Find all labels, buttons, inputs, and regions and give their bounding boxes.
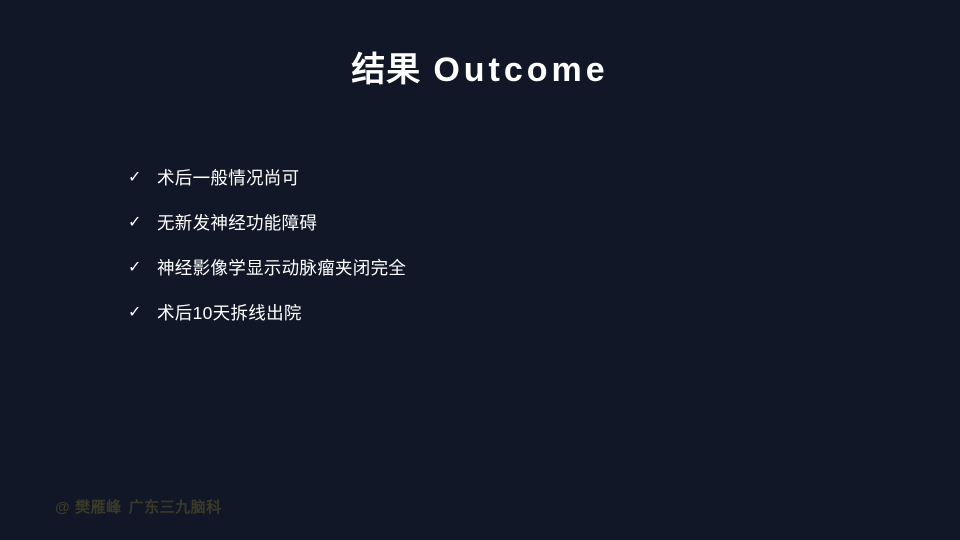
watermark-at-symbol: @: [55, 499, 70, 516]
list-item: ✓ 术后一般情况尚可: [128, 166, 848, 211]
checkmark-icon: ✓: [128, 166, 148, 190]
checkmark-icon: ✓: [128, 256, 148, 280]
checkmark-icon: ✓: [128, 301, 148, 325]
presentation-slide: 结果Outcome ✓ 术后一般情况尚可 ✓ 无新发神经功能障碍 ✓ 神经影像学…: [0, 0, 960, 540]
outcome-bullet-list: ✓ 术后一般情况尚可 ✓ 无新发神经功能障碍 ✓ 神经影像学显示动脉瘤夹闭完全 …: [128, 166, 848, 346]
list-item-label: 神经影像学显示动脉瘤夹闭完全: [157, 256, 406, 280]
page-title-en: Outcome: [433, 51, 608, 89]
list-item: ✓ 神经影像学显示动脉瘤夹闭完全: [128, 256, 848, 301]
list-item-label: 无新发神经功能障碍: [157, 211, 317, 235]
list-item: ✓ 无新发神经功能障碍: [128, 211, 848, 256]
watermark-organization: 广东三九脑科: [129, 499, 222, 516]
list-item-label: 术后一般情况尚可: [157, 166, 299, 190]
watermark: @樊雁峰广东三九脑科: [55, 498, 222, 518]
checkmark-icon: ✓: [128, 211, 148, 235]
list-item-label: 术后10天拆线出院: [157, 301, 302, 325]
watermark-author: 樊雁峰: [75, 499, 122, 516]
page-title: 结果Outcome: [0, 49, 960, 91]
list-item: ✓ 术后10天拆线出院: [128, 301, 848, 346]
page-title-cn: 结果: [351, 51, 421, 89]
